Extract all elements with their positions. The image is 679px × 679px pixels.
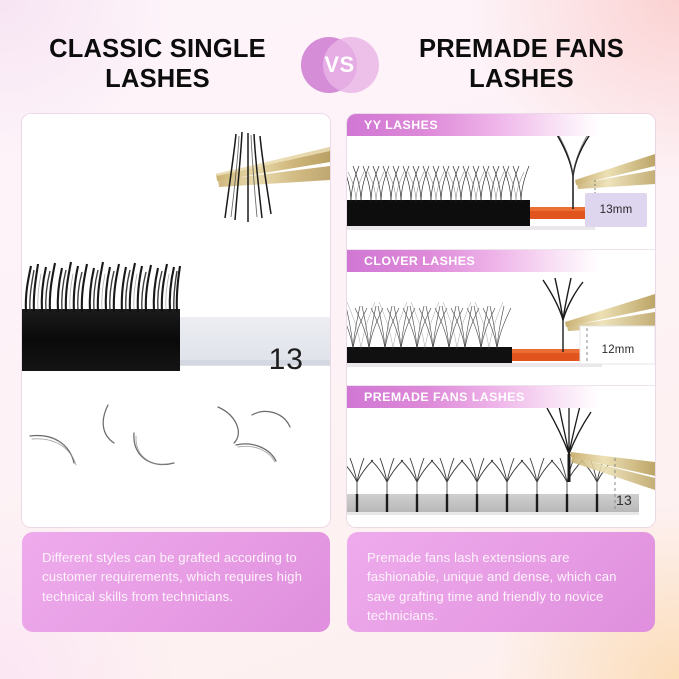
- banner-yy-lashes: YY LASHES: [347, 114, 655, 136]
- ruler-measurement-13: 13: [269, 343, 304, 377]
- left-column-title: CLASSIC SINGLE LASHES: [21, 35, 301, 94]
- right-caption: Premade fans lash extensions are fashion…: [347, 532, 655, 632]
- measurement-chip-13mm: 13mm: [585, 193, 647, 227]
- premade-fans-card: YY LASHES: [347, 114, 655, 527]
- vs-label: VS: [324, 37, 354, 93]
- banner-premade-fans-lashes: PREMADE FANS LASHES: [347, 386, 655, 408]
- right-column-title: PREMADE FANS LASHES: [379, 35, 659, 94]
- banner-label: YY LASHES: [364, 118, 438, 132]
- panel-yy-lashes: YY LASHES: [347, 114, 655, 249]
- left-caption: Different styles can be grafted accordin…: [22, 532, 330, 632]
- classic-lash-photo: 13: [22, 114, 330, 399]
- comparison-infographic: CLASSIC SINGLE LASHES VS PREMADE FANS LA…: [0, 0, 679, 679]
- classic-lashes-card: 13: [22, 114, 330, 527]
- panel-premade-fans-lashes: PREMADE FANS LASHES: [347, 386, 655, 527]
- panel-clover-lashes: CLOVER LASHES: [347, 250, 655, 385]
- lash-curl-illustrations: [22, 399, 330, 526]
- left-column: 13: [22, 114, 330, 632]
- banner-label: PREMADE FANS LASHES: [364, 390, 525, 404]
- header: CLASSIC SINGLE LASHES VS PREMADE FANS LA…: [0, 26, 679, 104]
- banner-clover-lashes: CLOVER LASHES: [347, 250, 655, 272]
- measurement-chip-13: 13: [607, 485, 641, 515]
- lash-curl-svg: [22, 399, 330, 526]
- measurement-chip-12mm: 12mm: [587, 337, 649, 363]
- right-column: YY LASHES: [347, 114, 655, 632]
- banner-label: CLOVER LASHES: [364, 254, 475, 268]
- vs-badge: VS: [301, 37, 379, 93]
